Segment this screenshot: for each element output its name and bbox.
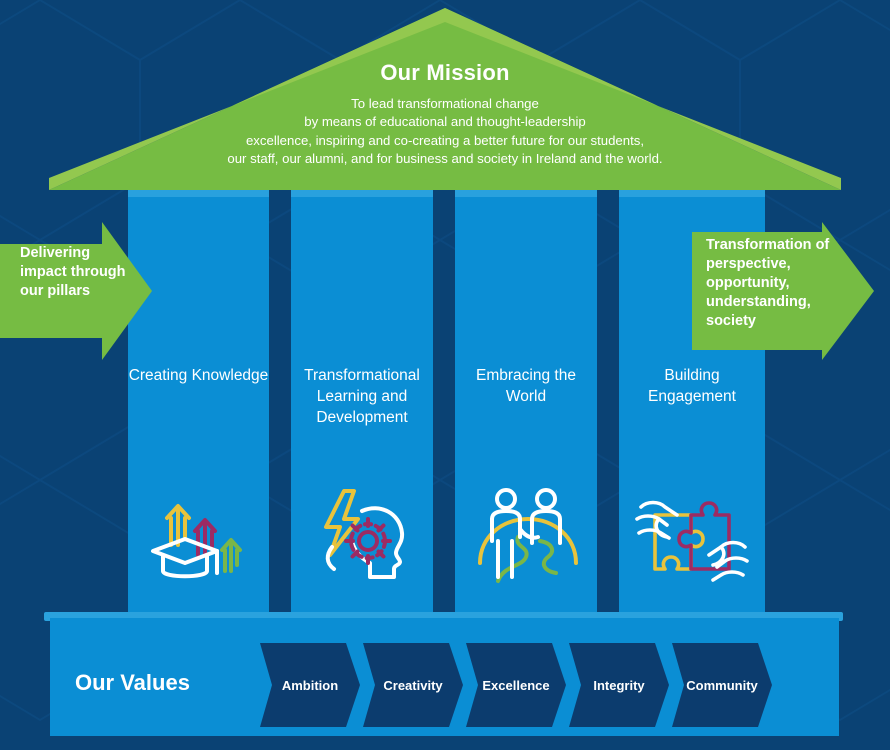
value-label-2: Creativity <box>383 678 442 693</box>
value-chip-creativity[interactable]: Creativity <box>363 643 463 727</box>
value-label-5: Community <box>686 678 758 693</box>
pillar-cap <box>128 190 269 197</box>
pillar-label-2: Transformational Learning and Developmen… <box>291 365 433 428</box>
head-gear-lightning-icon <box>306 485 418 590</box>
arrow-delivering-impact[interactable]: Delivering impact through our pillars <box>0 222 152 360</box>
pillar-cap <box>455 190 597 197</box>
arrow-left-label: Delivering impact through our pillars <box>20 244 128 301</box>
graduation-cap-arrows-icon <box>145 485 253 590</box>
hands-puzzle-icon <box>633 485 751 594</box>
people-globe-icon <box>470 485 582 592</box>
value-label-4: Integrity <box>593 678 644 693</box>
arrow-right-label: Transformation of perspective, opportuni… <box>706 236 838 331</box>
value-chip-ambition[interactable]: Ambition <box>260 643 360 727</box>
values-title: Our Values <box>75 670 190 696</box>
value-chip-integrity[interactable]: Integrity <box>569 643 669 727</box>
value-chip-community[interactable]: Community <box>672 643 772 727</box>
value-chip-excellence[interactable]: Excellence <box>466 643 566 727</box>
value-label-3: Excellence <box>482 678 549 693</box>
arrow-transformation[interactable]: Transformation of perspective, opportuni… <box>692 222 874 360</box>
value-label-1: Ambition <box>282 678 338 693</box>
pillar-cap <box>619 190 765 197</box>
pillar-transformational-learning[interactable]: Transformational Learning and Developmen… <box>291 190 433 620</box>
pillar-label-3: Embracing the World <box>455 365 597 407</box>
mission-roof <box>0 0 890 200</box>
pillar-label-4: Building Engagement <box>619 365 765 407</box>
pillar-cap <box>291 190 433 197</box>
infographic-canvas: Our Mission To lead transformational cha… <box>0 0 890 750</box>
pillar-label-1: Creating Knowledge <box>128 365 269 386</box>
pillar-embracing-the-world[interactable]: Embracing the World <box>455 190 597 620</box>
